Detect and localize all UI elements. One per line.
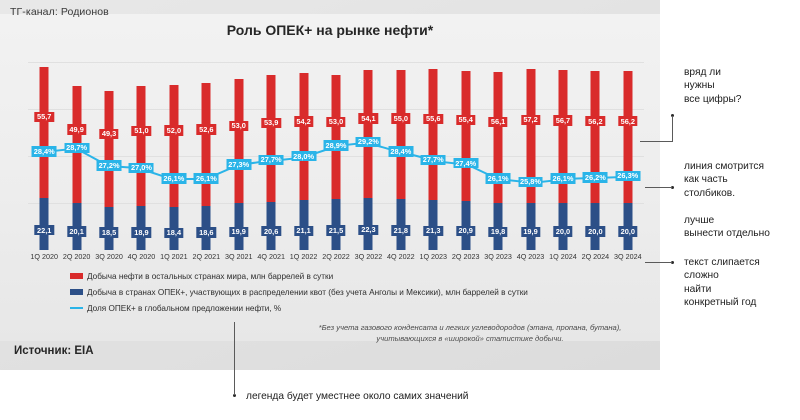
x-axis-tick-label: 1Q 2022: [290, 252, 318, 261]
bar-segment-red: [169, 85, 178, 207]
x-axis-tick-label: 4Q 2021: [257, 252, 285, 261]
bar-column[interactable]: 54,122,3: [352, 62, 384, 250]
bar-value-label-red: 53,0: [326, 117, 345, 127]
x-axis-tick-label: 4Q 2020: [128, 252, 156, 261]
bar-value-label-blue: 19,8: [488, 227, 507, 237]
bar-value-label-blue: 20,1: [67, 226, 86, 236]
bar-value-label-blue: 20,0: [586, 226, 605, 236]
x-axis-tick-label: 3Q 2020: [95, 252, 123, 261]
x-axis-tick-label: 2Q 2020: [63, 252, 91, 261]
bar-value-label-red: 57,2: [521, 115, 540, 125]
bar-value-label-red: 53,0: [229, 121, 248, 131]
share-value-label: 27,3%: [226, 159, 251, 169]
share-value-label: 27,0%: [129, 163, 154, 173]
share-value-label: 25,8%: [518, 177, 543, 187]
bar-segment-red: [137, 86, 146, 206]
source-label: Источник: EIA: [14, 345, 94, 357]
bar-value-label-blue: 20,0: [553, 226, 572, 236]
legend-item-red: Добыча нефти в остальных странах мира, м…: [70, 268, 590, 284]
bar-value-label-red: 51,0: [132, 126, 151, 136]
x-axis-tick-label: 4Q 2023: [517, 252, 545, 261]
chart-footnote: *Без учета газового конденсата и легких …: [290, 322, 650, 344]
share-value-label: 28,4%: [388, 146, 413, 156]
bar-segment-red: [331, 75, 340, 200]
annotation-leader-h-3: [645, 262, 672, 263]
plot-area: 55,722,149,920,149,318,551,018,952,018,4…: [28, 62, 644, 250]
share-value-label: 28,0%: [291, 151, 316, 161]
annotation-legend-placement: легенда будет уместнее около самих значе…: [246, 390, 469, 403]
annotation-leader-h-2: [645, 187, 672, 188]
bar-value-label-blue: 19,9: [229, 227, 248, 237]
bar-segment-red: [364, 70, 373, 197]
bar-value-label-blue: 22,1: [35, 225, 54, 235]
bar-segment-blue: [40, 198, 49, 250]
bar-column[interactable]: 52,018,4: [158, 62, 190, 250]
x-axis-tick-label: 3Q 2021: [225, 252, 253, 261]
share-value-label: 27,7%: [421, 155, 446, 165]
bar-value-label-red: 55,0: [391, 113, 410, 123]
page-title: Роль ОПЕК+ на рынке нефти*: [0, 22, 660, 38]
blue-swatch-icon: [70, 289, 83, 295]
chart-legend: Добыча нефти в остальных странах мира, м…: [70, 268, 590, 316]
bar-value-label-red: 56,7: [553, 115, 572, 125]
bar-segment-red: [623, 71, 632, 203]
annotation-leader-v-4: [234, 322, 235, 395]
channel-label: ТГ-канал: Родионов: [10, 6, 109, 18]
bar-segment-red: [299, 73, 308, 200]
x-axis-tick-label: 2Q 2023: [452, 252, 480, 261]
annotation-text-crowded: текст слипается сложно найти конкретный …: [684, 256, 760, 310]
bar-column[interactable]: 55,420,9: [449, 62, 481, 250]
share-value-label: 26,1%: [194, 173, 219, 183]
bar-segment-blue: [364, 198, 373, 250]
bar-value-label-red: 52,0: [164, 125, 183, 135]
annotation-leader-v-1: [672, 116, 673, 142]
bar-column[interactable]: 57,219,9: [514, 62, 546, 250]
x-axis-tick-label: 4Q 2022: [387, 252, 415, 261]
legend-label-blue: Добыча в странах ОПЕК+, участвующих в ра…: [87, 288, 528, 297]
bar-segment-red: [105, 91, 114, 207]
bar-segment-red: [40, 67, 49, 198]
x-axis-tick-label: 2Q 2024: [582, 252, 610, 261]
bar-segment-red: [396, 70, 405, 199]
bar-value-label-blue: 20,0: [618, 226, 637, 236]
bar-value-label-blue: 20,9: [456, 226, 475, 236]
bar-column[interactable]: 56,220,0: [612, 62, 644, 250]
bar-value-label-blue: 18,9: [132, 227, 151, 237]
bar-value-label-blue: 18,4: [164, 228, 183, 238]
bar-value-label-red: 53,9: [261, 118, 280, 128]
x-axis-tick-label: 2Q 2021: [193, 252, 221, 261]
cyan-line-icon: [70, 307, 83, 309]
share-value-label: 27,4%: [453, 158, 478, 168]
bar-value-label-red: 56,1: [488, 117, 507, 127]
share-value-label: 26,3%: [615, 171, 640, 181]
x-axis-tick-label: 1Q 2021: [160, 252, 188, 261]
bar-segment-red: [429, 69, 438, 200]
bar-value-label-blue: 18,5: [99, 227, 118, 237]
bar-value-label-red: 56,2: [618, 116, 637, 126]
bar-column[interactable]: 49,318,5: [93, 62, 125, 250]
x-axis-tick-label: 2Q 2022: [322, 252, 350, 261]
bar-value-label-red: 55,6: [424, 114, 443, 124]
bar-column[interactable]: 51,018,9: [125, 62, 157, 250]
share-value-label: 27,2%: [97, 160, 122, 170]
bar-value-label-blue: 21,3: [424, 226, 443, 236]
bar-segment-red: [202, 83, 211, 207]
legend-label-line: Доля ОПЕК+ в глобальном предложении нефт…: [87, 304, 281, 313]
legend-item-blue: Добыча в странах ОПЕК+, участвующих в ра…: [70, 284, 590, 300]
bar-column[interactable]: 52,618,6: [190, 62, 222, 250]
annotation-line-looks-like-bars: линия смотрится как часть столбиков. луч…: [684, 160, 770, 241]
x-axis-tick-label: 1Q 2020: [30, 252, 58, 261]
annotation-too-many-numbers: вряд ли нужны все цифры?: [684, 66, 741, 106]
bar-value-label-red: 55,4: [456, 115, 475, 125]
bar-segment-red: [267, 75, 276, 202]
bar-value-label-red: 56,2: [586, 116, 605, 126]
bar-value-label-blue: 21,8: [391, 225, 410, 235]
bar-segment-red: [461, 71, 470, 201]
bar-value-label-red: 49,3: [99, 129, 118, 139]
red-swatch-icon: [70, 273, 83, 279]
bar-value-label-red: 52,6: [197, 124, 216, 134]
share-value-label: 29,2%: [356, 137, 381, 147]
bar-column[interactable]: 53,021,5: [320, 62, 352, 250]
bar-column[interactable]: 53,019,9: [223, 62, 255, 250]
share-value-label: 27,7%: [259, 155, 284, 165]
bar-value-label-red: 54,1: [359, 113, 378, 123]
bar-column[interactable]: 56,220,0: [579, 62, 611, 250]
bar-value-label-blue: 20,6: [261, 226, 280, 236]
bar-value-label-blue: 22,3: [359, 225, 378, 235]
bar-segment-red: [234, 79, 243, 204]
x-axis-tick-label: 1Q 2024: [549, 252, 577, 261]
bar-column[interactable]: 56,720,0: [547, 62, 579, 250]
bar-value-label-blue: 18,6: [197, 227, 216, 237]
bar-value-label-blue: 19,9: [521, 227, 540, 237]
share-value-label: 26,2%: [583, 172, 608, 182]
bar-column[interactable]: 56,119,8: [482, 62, 514, 250]
annotation-leader-h-1: [640, 141, 673, 142]
share-value-label: 26,1%: [486, 173, 511, 183]
legend-item-line: Доля ОПЕК+ в глобальном предложении нефт…: [70, 300, 590, 316]
chart-card: ТГ-канал: Родионов Роль ОПЕК+ на рынке н…: [0, 0, 660, 370]
share-value-label: 28,9%: [324, 140, 349, 150]
share-value-label: 26,1%: [161, 173, 186, 183]
x-axis-tick-label: 3Q 2022: [355, 252, 383, 261]
share-value-label: 26,1%: [550, 173, 575, 183]
bar-segment-red: [591, 71, 600, 203]
x-axis-tick-label: 1Q 2023: [419, 252, 447, 261]
bar-value-label-red: 54,2: [294, 116, 313, 126]
bar-value-label-blue: 21,1: [294, 226, 313, 236]
bar-value-label-red: 49,9: [67, 124, 86, 134]
x-axis: 1Q 20202Q 20203Q 20204Q 20201Q 20212Q 20…: [28, 252, 644, 266]
x-axis-tick-label: 3Q 2023: [484, 252, 512, 261]
bar-value-label-red: 55,7: [35, 112, 54, 122]
share-value-label: 28,7%: [64, 143, 89, 153]
bar-value-label-blue: 21,5: [326, 225, 345, 235]
x-axis-tick-label: 3Q 2024: [614, 252, 642, 261]
legend-label-red: Добыча нефти в остальных странах мира, м…: [87, 272, 333, 281]
share-value-label: 28,4%: [32, 146, 57, 156]
